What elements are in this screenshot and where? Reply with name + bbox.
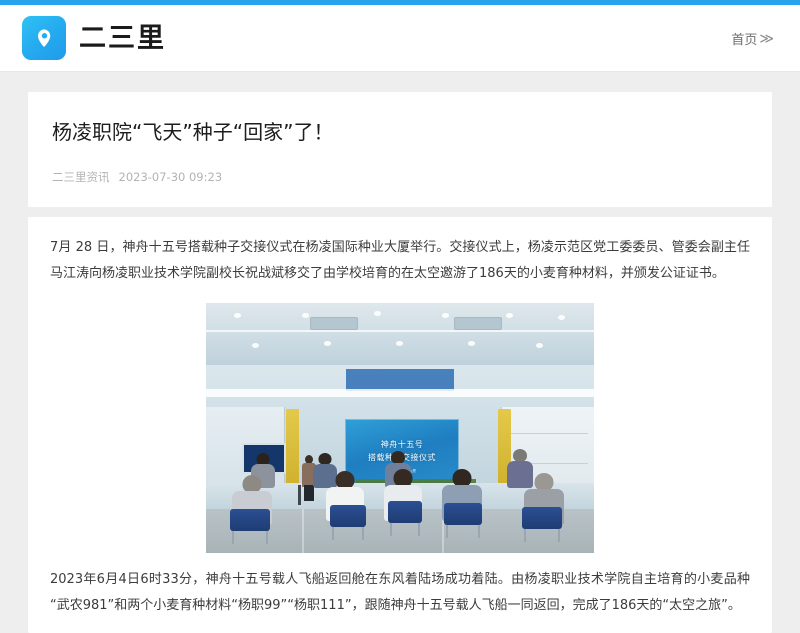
article-body-card: 7月 28 日，神舟十五号搭载种子交接仪式在杨凌国际种业大厦举行。交接仪式上，杨… <box>28 217 772 633</box>
photo-ceiling-vent <box>310 317 358 330</box>
location-pin-icon <box>22 16 66 60</box>
photo-screen-line-1: 神舟十五号 <box>381 439 424 450</box>
photo-chair <box>522 507 562 529</box>
article-paragraph: 7月 28 日，神舟十五号搭载种子交接仪式在杨凌国际种业大厦举行。交接仪式上，杨… <box>50 235 750 287</box>
article-paragraph: 2023年6月4日6时33分，神舟十五号载人飞船返回舱在东风着陆场成功着陆。由杨… <box>50 567 750 619</box>
photo-wall-banner <box>346 369 454 391</box>
byline: 二三里资讯 2023-07-30 09:23 <box>52 169 748 185</box>
article-figure: 神舟十五号 搭载种子交接仪式 杨凌国际种业大厦 <box>50 303 750 553</box>
photo-chair <box>444 503 482 525</box>
ceremony-photo: 神舟十五号 搭载种子交接仪式 杨凌国际种业大厦 <box>206 303 594 553</box>
brand-logo[interactable]: 二三里 <box>22 16 166 60</box>
photo-chair <box>330 505 366 527</box>
photo-light-beam <box>206 389 594 397</box>
article-timestamp: 2023-07-30 09:23 <box>119 170 223 184</box>
article-source: 二三里资讯 <box>52 169 110 185</box>
page-content: 杨凌职院“飞天”种子“回家”了！ 二三里资讯 2023-07-30 09:23 … <box>0 72 800 633</box>
photo-microphone-stand <box>298 485 301 505</box>
site-header: 二三里 首页 ≫ <box>0 5 800 72</box>
double-chevron-right-icon: ≫ <box>759 31 774 45</box>
nav-home-label: 首页 <box>731 29 757 48</box>
photo-ceiling-vent <box>454 317 502 330</box>
photo-chair <box>388 501 422 523</box>
photo-chair <box>230 509 270 531</box>
photo-ceiling-lights <box>206 303 594 365</box>
brand-name: 二三里 <box>79 25 166 52</box>
page-title: 杨凌职院“飞天”种子“回家”了！ <box>52 118 748 147</box>
nav-home-link[interactable]: 首页 ≫ <box>731 29 778 48</box>
article-header-card: 杨凌职院“飞天”种子“回家”了！ 二三里资讯 2023-07-30 09:23 <box>28 92 772 207</box>
